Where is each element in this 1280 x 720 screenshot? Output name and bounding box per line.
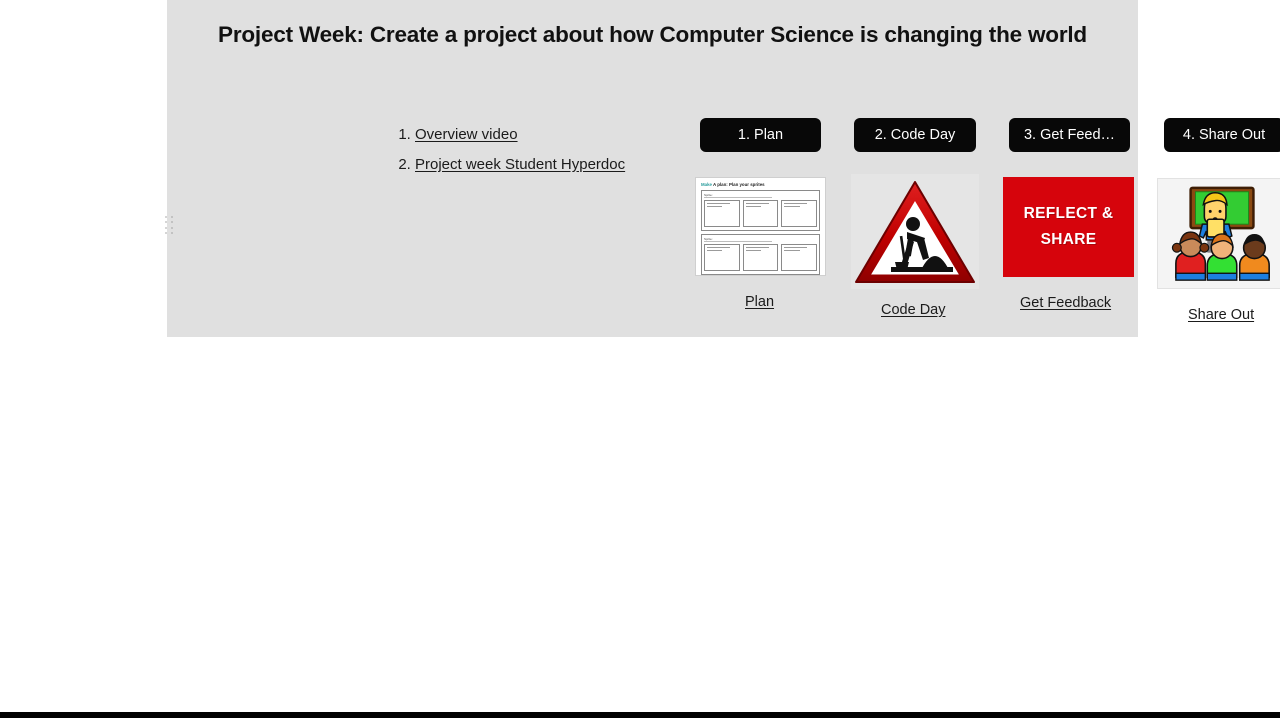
thumbnail-code-day[interactable] — [851, 174, 979, 289]
step-button-get-feedback[interactable]: 3. Get Feed… — [1009, 118, 1130, 152]
link-overview-video[interactable]: Overview video — [415, 126, 518, 143]
list-item: Project week Student Hyperdoc — [415, 152, 645, 177]
mini-label: Sprite: — [704, 237, 772, 242]
page-title: Project Week: Create a project about how… — [167, 22, 1138, 48]
mini-cell — [704, 244, 740, 271]
construction-warning-sign-icon — [851, 174, 979, 289]
step-button-code-day[interactable]: 2. Code Day — [854, 118, 976, 152]
thumbnail-share-out[interactable] — [1157, 178, 1280, 289]
caption-link-plan[interactable]: Plan — [745, 294, 774, 310]
caption-link-code-day[interactable]: Code Day — [881, 302, 945, 318]
mini-cell — [704, 200, 740, 227]
mini-grid — [704, 244, 817, 271]
thumbnail-get-feedback[interactable]: REFLECT & SHARE — [1003, 177, 1134, 277]
mini-label: Sprite: — [704, 193, 772, 198]
mini-cell — [781, 244, 817, 271]
drag-handle-icon[interactable] — [165, 216, 175, 236]
mini-heading-rest: A plan: Plan your sprites — [712, 182, 765, 187]
mini-cell — [781, 200, 817, 227]
mini-cell — [743, 200, 779, 227]
slide-viewer: Project Week: Create a project about how… — [0, 0, 1280, 720]
caption-link-share-out[interactable]: Share Out — [1188, 307, 1254, 323]
step-button-share-out[interactable]: 4. Share Out — [1164, 118, 1280, 152]
resource-link-list: Overview video Project week Student Hype… — [397, 122, 645, 182]
mini-heading-accent: Make — [701, 182, 712, 187]
reflect-share-line-1: REFLECT & — [1024, 205, 1114, 223]
mini-grid — [704, 200, 817, 227]
bottom-bar — [0, 712, 1280, 718]
mini-cell — [743, 244, 779, 271]
thumbnail-plan[interactable]: Make A plan: Plan your sprites Sprite: — [695, 177, 826, 276]
reflect-share-line-2: SHARE — [1041, 231, 1097, 249]
slide-panel: Project Week: Create a project about how… — [167, 0, 1138, 337]
link-project-week-hyperdoc[interactable]: Project week Student Hyperdoc — [415, 156, 625, 173]
list-item: Overview video — [415, 122, 645, 147]
caption-link-get-feedback[interactable]: Get Feedback — [1020, 295, 1111, 311]
slide-thumbnail-icon: Make A plan: Plan your sprites — [701, 182, 820, 188]
mini-section: Sprite: — [701, 234, 820, 275]
step-button-plan[interactable]: 1. Plan — [700, 118, 821, 152]
mini-section: Sprite: — [701, 190, 820, 231]
classroom-presentation-icon — [1158, 179, 1280, 288]
